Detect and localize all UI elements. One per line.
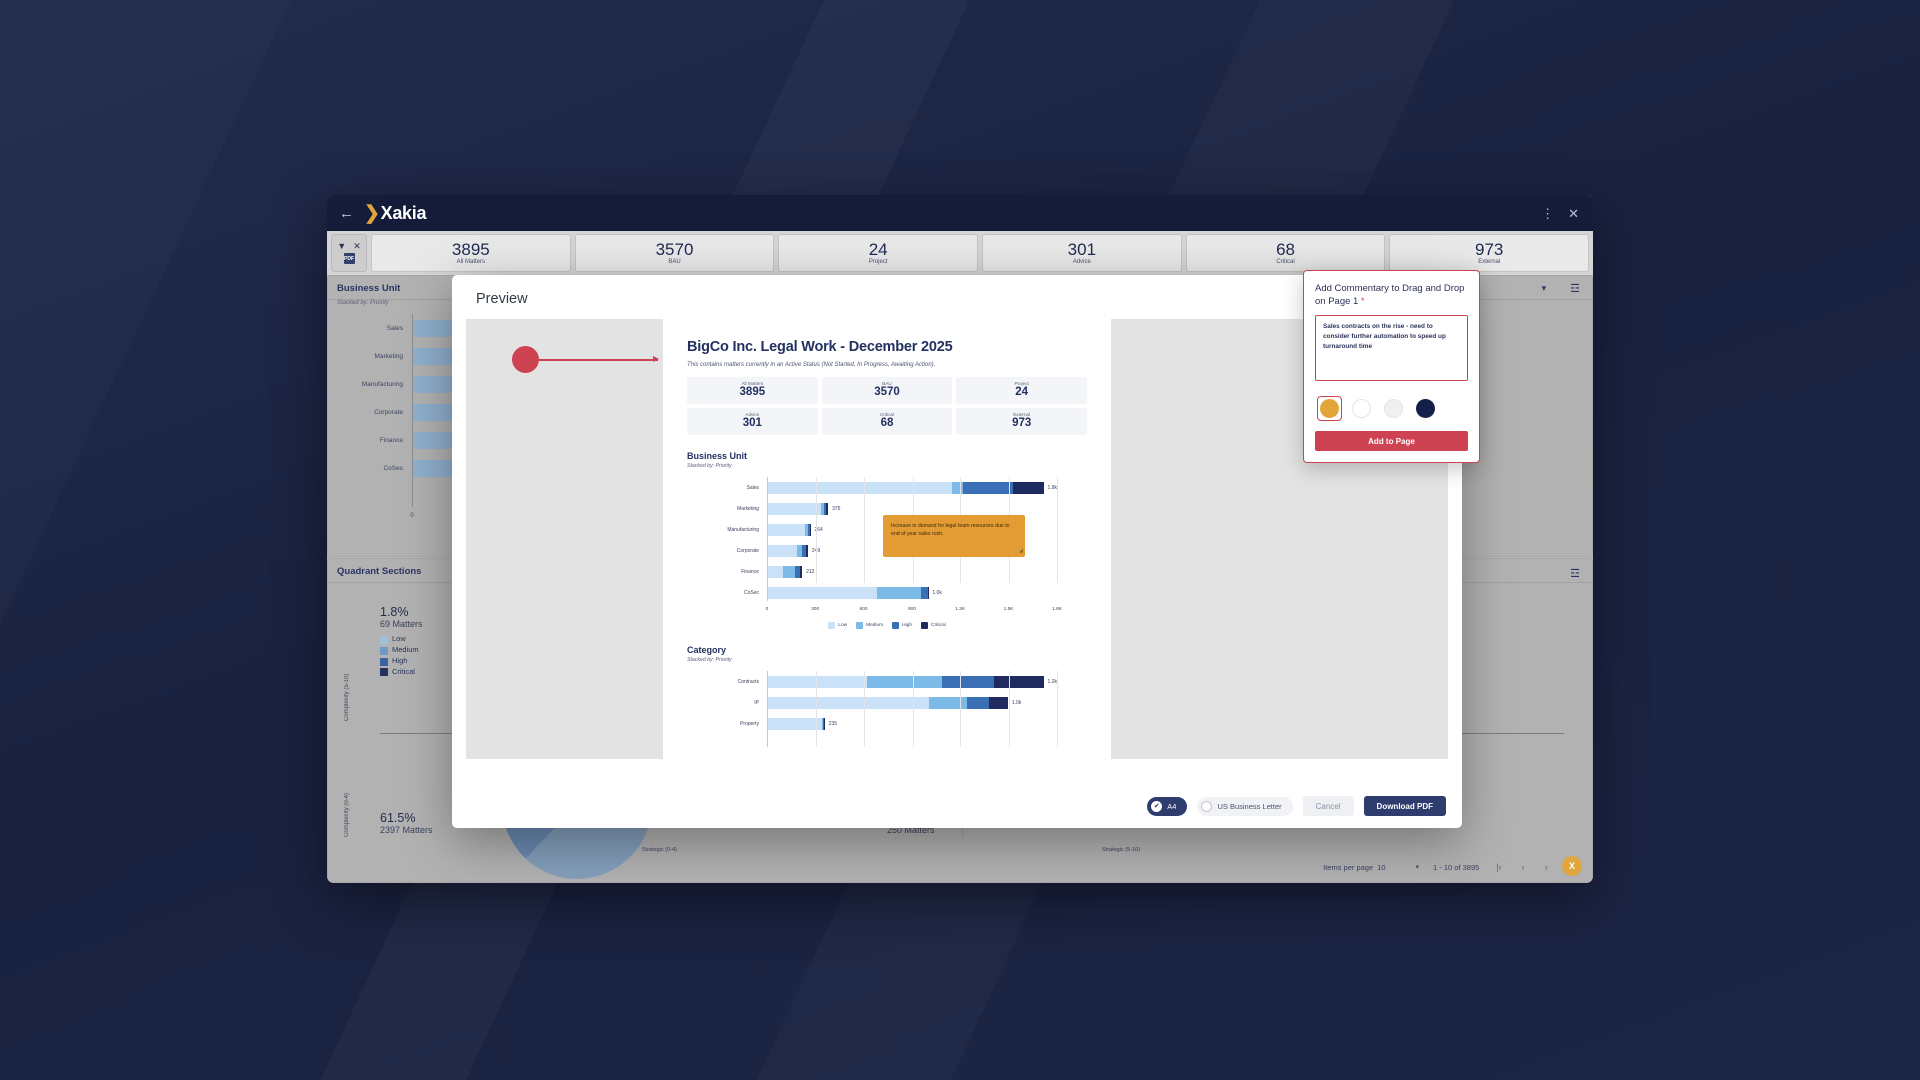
first-page-icon[interactable]: |‹ <box>1493 862 1504 872</box>
axis-label: Marketing <box>687 498 765 519</box>
filter-icon[interactable]: ▼ <box>337 242 346 251</box>
y-axis-label-bottom: Complexity (0-4) <box>344 751 350 837</box>
quadrant-percentage: 61.5% <box>380 811 433 825</box>
x-tick: 0 <box>410 513 413 519</box>
check-icon: ✔ <box>1151 801 1162 812</box>
legend-label: High <box>392 656 407 667</box>
chart-plot-area: 1.2k 1.0k <box>767 671 1057 747</box>
commentary-textarea[interactable] <box>1315 315 1468 381</box>
kpi-value: 24 <box>869 241 888 259</box>
axis-label: CoSec <box>687 582 765 603</box>
document-kpi-critical: Critical 68 <box>822 408 953 435</box>
kpi-toolbar: ▼ ✕ PDF 3895 All Matters 3570 BAU 24 Pro… <box>327 231 1593 275</box>
preview-canvas[interactable]: BigCo Inc. Legal Work - December 2025 Th… <box>466 319 1448 759</box>
document-subtitle: This contains matters currently in an Ac… <box>687 362 1087 368</box>
paper-size-a4-option[interactable]: ✔ A4 <box>1147 797 1187 816</box>
section-subtitle: Stacked by: Priority <box>687 657 1087 663</box>
kpi-card-critical[interactable]: 68 Critical <box>1186 234 1386 272</box>
chart-category-labels: Sales Marketing Manufacturing Corporate … <box>687 477 765 603</box>
legend-label: Critical <box>931 623 946 628</box>
bar-value-label: 1.2k <box>1048 679 1057 685</box>
x-axis-label-left: Strategic (0-4) <box>642 847 677 853</box>
close-icon[interactable]: ✕ <box>1568 207 1579 220</box>
kpi-value: 3570 <box>656 241 694 259</box>
commentary-color-swatches <box>1315 396 1468 421</box>
x-tick: 0 <box>766 607 769 612</box>
axis-label: Property <box>687 713 765 734</box>
kpi-label: BAU <box>668 259 680 265</box>
kpi-label: External <box>1478 259 1500 265</box>
modal-footer: ✔ A4 US Business Letter Cancel Download … <box>1147 796 1446 816</box>
option-label: A4 <box>1167 802 1176 811</box>
quadrant-stat-bottom-left: 61.5% 2397 Matters <box>380 811 433 835</box>
radio-icon <box>1201 801 1212 812</box>
chart-legend: Low Medium High Critical <box>687 622 1087 629</box>
x-tick: 1.2K <box>955 607 965 612</box>
chart-x-ticks: 0 300 600 900 1.2K 1.5K 1.8K <box>767 607 1057 617</box>
download-pdf-button[interactable]: Download PDF <box>1364 796 1446 816</box>
axis-label: Manufacturing <box>342 370 408 398</box>
axis-label: Manufacturing <box>687 519 765 540</box>
axis-label: Corporate <box>687 540 765 561</box>
commentary-panel: Add Commentary to Drag and Drop on Page … <box>1303 270 1480 463</box>
document-section-category: Category Stacked by: Priority Contracts … <box>687 645 1087 747</box>
bar-value-label: 1.0k <box>932 590 941 596</box>
kpi-value: 973 <box>1475 241 1503 259</box>
bar-value-label: 1.0k <box>1012 700 1021 706</box>
window-controls: ⋮ ✕ <box>1541 195 1579 231</box>
section-title: Business Unit <box>687 451 1087 461</box>
pdf-export-icon[interactable]: PDF <box>344 253 355 264</box>
option-label: US Business Letter <box>1217 802 1281 811</box>
chart-category-labels: Contracts IP Property <box>687 671 765 734</box>
chevron-down-icon[interactable]: ▾ <box>1416 863 1420 871</box>
pagination-bar: Items per page 10 ▾ 1 - 10 of 3895 |‹ ‹ … <box>1323 862 1576 872</box>
kpi-label: Advice <box>1073 259 1091 265</box>
swatch-amber[interactable] <box>1317 396 1342 421</box>
brand-name: Xakia <box>381 203 427 224</box>
bar-value-label: 212 <box>806 569 814 575</box>
items-per-page-label: Items per page <box>1323 863 1373 872</box>
toolbar-icon-group: ▼ ✕ PDF <box>331 234 367 272</box>
axis-label: Finance <box>342 426 408 454</box>
quadrant-stat-top-left: 1.8% 69 Matters Low Medium High Critical <box>380 605 423 678</box>
chart-category: Contracts IP Property <box>687 671 1087 747</box>
note-text: Increase in demand for legal team resour… <box>891 523 1010 537</box>
swatch-navy[interactable] <box>1413 396 1438 421</box>
brand-chevron-icon: ❯ <box>364 202 380 225</box>
next-page-icon[interactable]: › <box>1542 862 1551 872</box>
legend-label: Medium <box>392 645 419 656</box>
overflow-menu-icon[interactable]: ⋮ <box>1541 207 1554 220</box>
items-per-page-value: 10 <box>1377 863 1385 872</box>
settings-sliders-icon[interactable]: ☲ <box>1570 282 1580 295</box>
legend-item-critical: Critical <box>921 622 946 629</box>
kpi-card-all-matters[interactable]: 3895 All Matters <box>371 234 571 272</box>
legend-item-high: High <box>892 622 912 629</box>
axis-label: Corporate <box>342 398 408 426</box>
x-tick: 1.8K <box>1052 607 1062 612</box>
axis-label: Marketing <box>342 342 408 370</box>
bar-value-label: 1.8k <box>1048 485 1057 491</box>
document-section-business-unit: Business Unit Stacked by: Priority Sales… <box>687 451 1087 629</box>
axis-label: IP <box>687 692 765 713</box>
window-title-bar: ← ❯Xakia ⋮ ✕ <box>327 195 1593 231</box>
x-tick: 300 <box>811 607 819 612</box>
kpi-value: 3570 <box>874 386 900 399</box>
axis-label: Sales <box>342 314 408 342</box>
y-axis-label-top: Complexity (5-10) <box>344 635 350 721</box>
legend-label: Critical <box>392 667 415 678</box>
kpi-label: All Matters <box>457 259 485 265</box>
axis-label: CoSec <box>342 454 408 482</box>
legend-label: Medium <box>866 623 883 628</box>
kpi-value: 3895 <box>452 241 490 259</box>
items-per-page-control[interactable]: Items per page 10 ▾ <box>1323 863 1419 872</box>
kpi-card-project[interactable]: 24 Project <box>778 234 978 272</box>
bg-chart-category-labels: Sales Marketing Manufacturing Corporate … <box>342 314 408 482</box>
legend-item-medium: Medium <box>856 622 883 629</box>
kpi-card-external[interactable]: 973 External <box>1389 234 1589 272</box>
x-tick: 600 <box>860 607 868 612</box>
document-kpi-bau: BAU 3570 <box>822 377 953 404</box>
kpi-label: Critical <box>1276 259 1294 265</box>
bar-row: 1.0k <box>768 582 1057 603</box>
kpi-card-advice[interactable]: 301 Advice <box>982 234 1182 272</box>
chart-business-unit: Sales Marketing Manufacturing Corporate … <box>687 477 1087 619</box>
quadrant-matters: 69 Matters <box>380 619 423 629</box>
swatch-white[interactable] <box>1349 396 1374 421</box>
document-kpi-all-matters: All Matters 3895 <box>687 377 818 404</box>
kpi-value: 68 <box>881 417 894 430</box>
kpi-value: 3895 <box>740 386 766 399</box>
section-subtitle: Stacked by: Priority <box>687 463 1087 469</box>
add-to-page-button[interactable]: Add to Page <box>1315 431 1468 451</box>
quadrant-legend: Low Medium High Critical <box>380 634 423 678</box>
swatch-light-grey[interactable] <box>1381 396 1406 421</box>
legend-label: Low <box>838 623 847 628</box>
legend-item-low: Low <box>828 622 847 629</box>
resize-grip-icon[interactable]: ◢ <box>1019 548 1023 556</box>
bar-value-label: 375 <box>832 506 840 512</box>
page-range-label: 1 - 10 of 3895 <box>1433 863 1479 872</box>
axis-label: Contracts <box>687 671 765 692</box>
x-tick: 900 <box>908 607 916 612</box>
paper-size-letter-option[interactable]: US Business Letter <box>1197 797 1292 816</box>
back-icon[interactable]: ← <box>339 206 354 221</box>
legend-label: Low <box>392 634 406 645</box>
annotation-dot[interactable] <box>512 346 539 373</box>
kpi-value: 973 <box>1012 417 1031 430</box>
bar-value-label: 235 <box>829 721 837 727</box>
annotation-arrow-icon <box>538 359 658 361</box>
quadrant-matters: 2397 Matters <box>380 825 433 835</box>
required-marker: * <box>1361 296 1365 306</box>
document-kpi-advice: Advice 301 <box>687 408 818 435</box>
pdf-page-preview: BigCo Inc. Legal Work - December 2025 Th… <box>663 319 1111 759</box>
kpi-value: 301 <box>743 417 762 430</box>
help-fab-button[interactable]: X <box>1562 856 1582 876</box>
panel-controls: ▾ ☲ <box>1542 282 1580 295</box>
document-kpi-external: External 973 <box>956 408 1087 435</box>
kpi-label: Project <box>869 259 888 265</box>
clear-filter-icon[interactable]: ✕ <box>353 242 361 251</box>
commentary-note-on-page[interactable]: Increase in demand for legal team resour… <box>883 515 1025 557</box>
brand-logo: ❯Xakia <box>364 202 426 225</box>
kpi-value: 301 <box>1068 241 1096 259</box>
prev-page-icon[interactable]: ‹ <box>1519 862 1528 872</box>
document-kpi-project: Project 24 <box>956 377 1087 404</box>
axis-label: Finance <box>687 561 765 582</box>
chevron-down-icon[interactable]: ▾ <box>1542 283 1547 294</box>
quadrant-percentage: 1.8% <box>380 605 423 619</box>
x-axis-label-right: Strategic (5-10) <box>1102 847 1140 853</box>
x-tick: 1.5K <box>1004 607 1014 612</box>
commentary-title-text: Add Commentary to Drag and Drop on Page … <box>1315 283 1464 307</box>
cancel-button[interactable]: Cancel <box>1303 796 1354 816</box>
kpi-value: 24 <box>1015 386 1028 399</box>
commentary-title: Add Commentary to Drag and Drop on Page … <box>1315 282 1468 308</box>
axis-label: Sales <box>687 477 765 498</box>
settings-sliders-icon[interactable]: ☲ <box>1570 567 1580 580</box>
section-title: Category <box>687 645 1087 655</box>
document-kpi-grid: All Matters 3895 BAU 3570 Project 24 Adv… <box>687 377 1087 435</box>
legend-label: High <box>902 623 912 628</box>
document-title: BigCo Inc. Legal Work - December 2025 <box>687 339 1087 355</box>
kpi-value: 68 <box>1276 241 1295 259</box>
kpi-card-bau[interactable]: 3570 BAU <box>575 234 775 272</box>
